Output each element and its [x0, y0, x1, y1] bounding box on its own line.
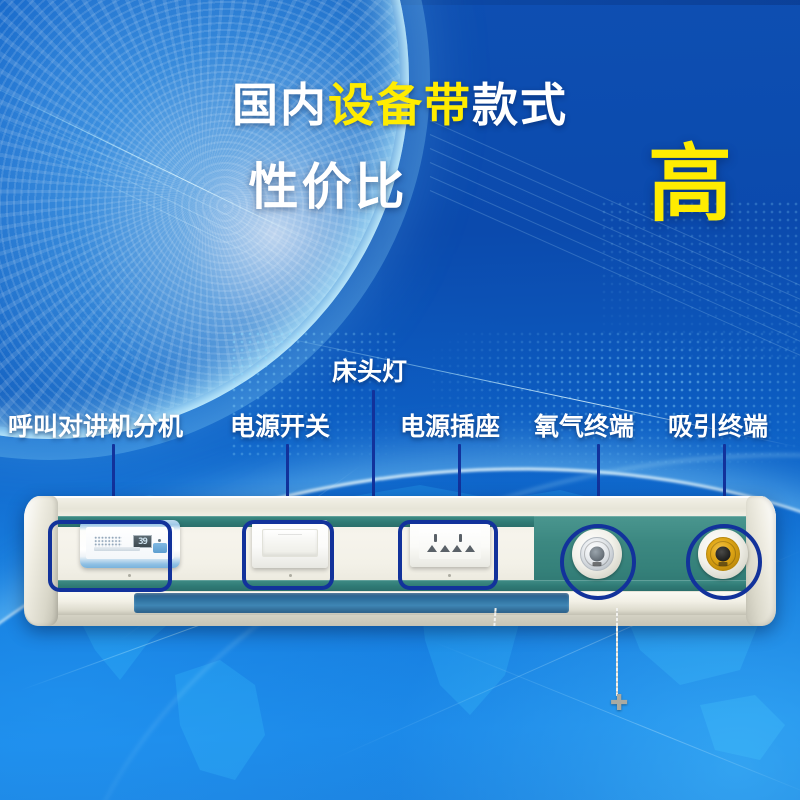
highlight-box-power-socket: [398, 520, 498, 590]
highlight-box-power-switch: [242, 520, 334, 590]
callout-label-intercom: 呼叫对讲机分机: [8, 415, 183, 440]
highlight-circle-suction-terminal: [686, 524, 762, 600]
callout-label-power-socket: 电源插座: [400, 415, 500, 440]
panel-rail-channel: [134, 593, 569, 613]
pull-cord-handle-icon[interactable]: ✚: [610, 692, 625, 714]
poster-canvas: 国内设备带款式 性价比 高 呼叫对讲机分机 电源开关 床头灯 电源插座 氧气终端…: [0, 0, 800, 800]
pull-cord[interactable]: [616, 608, 618, 696]
highlight-box-intercom: [48, 520, 172, 592]
callout-label-power-switch: 电源开关: [230, 415, 330, 440]
callout-label-suction-terminal: 吸引终端: [668, 415, 768, 440]
callout-label-oxygen-terminal: 氧气终端: [534, 415, 634, 440]
callout-label-bed-lamp: 床头灯: [332, 360, 407, 385]
highlight-circle-oxygen-terminal: [560, 524, 636, 600]
headline-text-high: 高: [648, 142, 732, 226]
